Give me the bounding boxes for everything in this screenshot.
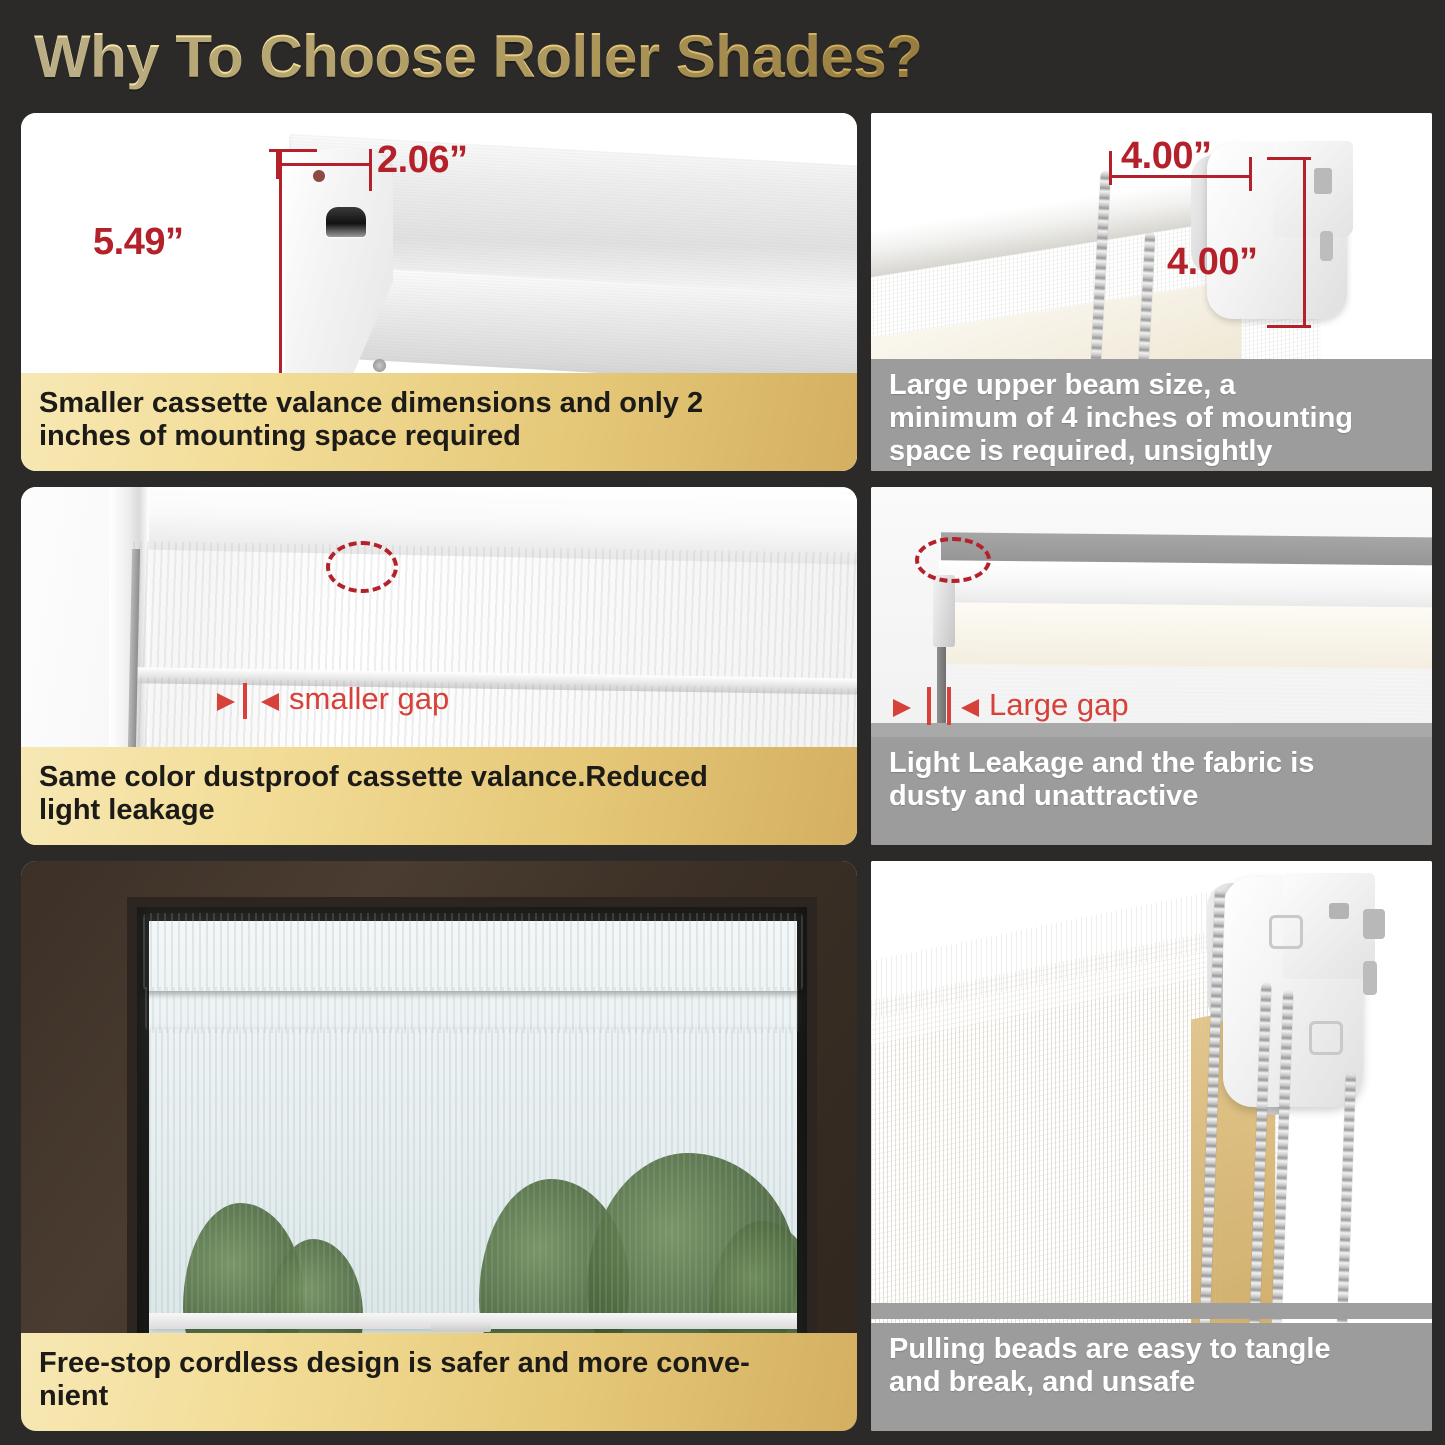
valance-slot <box>326 207 366 237</box>
panel-pro-cassette-dimensions: 2.06” 5.49” Smaller cassette valance dim… <box>21 113 857 471</box>
caption-line-1: Large upper beam size, a <box>889 369 1414 402</box>
panel-pro-cordless-design: Free-stop cordless design is safer and m… <box>21 861 857 1431</box>
gap-arrow-right <box>961 699 979 717</box>
caption-pro-dustproof-valance: Same color dustproof cassette valance.Re… <box>21 747 857 845</box>
beam-width-label: 4.00” <box>1121 135 1211 178</box>
caption-line-2: inches of mounting space required <box>39 420 839 453</box>
caption-pro-cassette-dimensions: Smaller cassette valance dimensions and … <box>21 373 857 471</box>
cassette-valance <box>143 913 803 991</box>
panel-con-large-beam: 4.00” 4.00” Large upper beam size, a min… <box>871 113 1432 471</box>
caption-line-2: and break, and unsafe <box>889 1366 1414 1399</box>
gap-label: smaller gap <box>289 681 449 717</box>
beam-height-line <box>1303 157 1306 327</box>
shade-fabric <box>149 1029 797 1325</box>
screw-bottom <box>373 359 386 372</box>
caption-line-1: Pulling beads are easy to tangle <box>889 1333 1414 1366</box>
caption-pro-cordless-design: Free-stop cordless design is safer and m… <box>21 1333 857 1431</box>
bracket-icon-bottom <box>1309 1021 1343 1055</box>
caption-line-2: light leakage <box>39 794 839 827</box>
dim-width-tick-right <box>369 149 372 191</box>
caption-con-large-beam: Large upper beam size, a minimum of 4 in… <box>871 359 1432 471</box>
dim-height-label: 5.49” <box>93 221 183 264</box>
gap-arrow-left <box>893 699 911 717</box>
caption-line-1: Smaller cassette valance dimensions and … <box>39 387 839 420</box>
gap-stub <box>927 687 931 725</box>
gap-arrow-right <box>261 693 279 711</box>
dim-height-tick-top <box>269 149 317 152</box>
pull-tab <box>431 1321 491 1332</box>
gap-stub-2 <box>947 687 951 725</box>
screw-top <box>313 170 325 182</box>
highlight-circle-gap <box>326 541 398 593</box>
beam-width-tick-right <box>1249 157 1252 191</box>
caption-line-1: Light Leakage and the fabric is <box>889 747 1414 780</box>
panel-pro-dustproof-valance: smaller gap Same color dustproof cassett… <box>21 487 857 845</box>
caption-line-3: space is required, unsightly <box>889 435 1414 468</box>
comparison-grid: 2.06” 5.49” Smaller cassette valance dim… <box>0 0 1445 1445</box>
caption-line-2: nient <box>39 1380 839 1413</box>
bracket-icon-top <box>1269 915 1303 949</box>
panel-con-light-leakage: Large gap Light Leakage and the fabric i… <box>871 487 1432 845</box>
beam-height-label: 4.00” <box>1167 241 1257 284</box>
dim-width-line <box>276 163 372 166</box>
caption-line-2: minimum of 4 inches of mounting <box>889 402 1414 435</box>
caption-line-1: Free-stop cordless design is safer and m… <box>39 1347 839 1380</box>
caption-line-2: dusty and unattractive <box>889 780 1414 813</box>
caption-line-1: Same color dustproof cassette valance.Re… <box>39 761 839 794</box>
caption-con-pulling-beads: Pulling beads are easy to tangle and bre… <box>871 1323 1432 1431</box>
beam-width-tick-left <box>1109 151 1112 185</box>
dim-width-label: 2.06” <box>377 139 467 182</box>
highlight-circle-gap <box>915 537 991 583</box>
caption-con-light-leakage: Light Leakage and the fabric is dusty an… <box>871 737 1432 845</box>
gap-label: Large gap <box>989 687 1129 723</box>
gap-stub <box>243 683 247 719</box>
panel-con-pulling-beads: Pulling beads are easy to tangle and bre… <box>871 861 1432 1431</box>
gap-arrow-left <box>217 693 235 711</box>
